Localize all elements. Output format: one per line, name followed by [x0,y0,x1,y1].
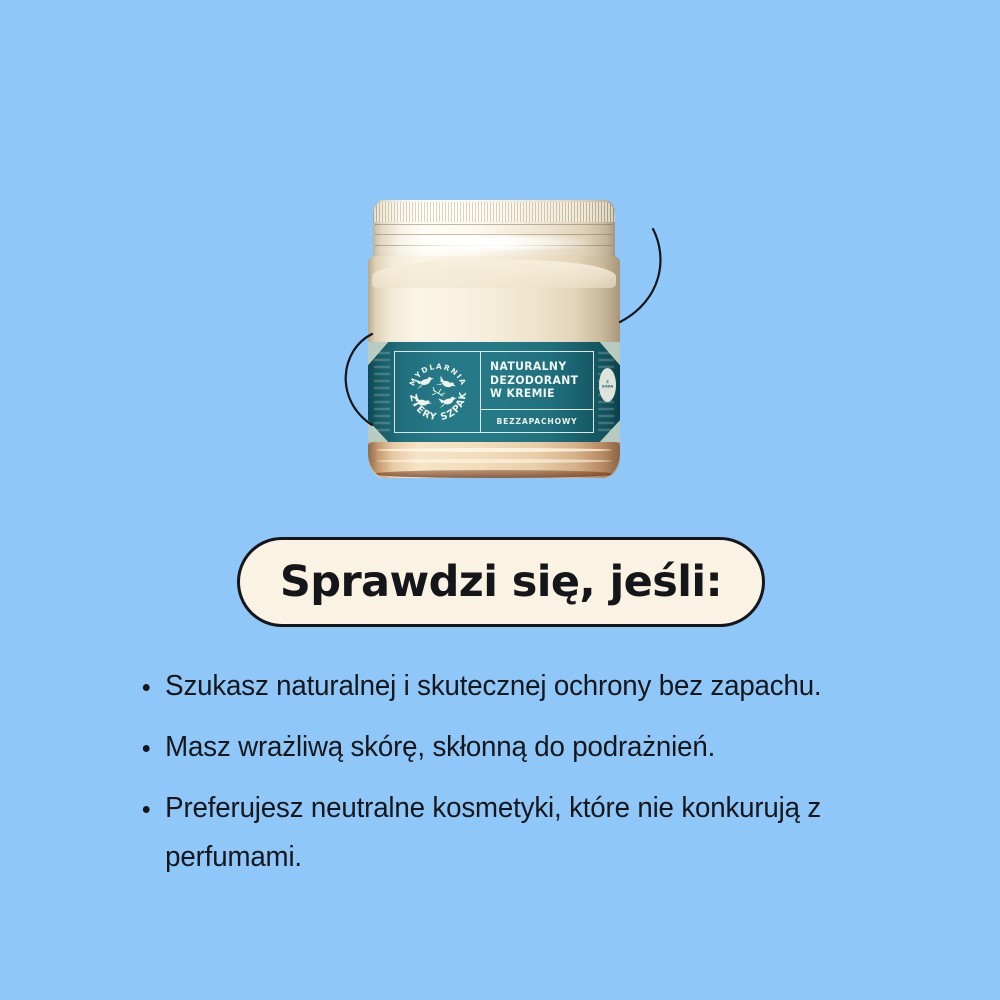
jar-lid-ring [375,234,613,235]
label-text-panel: NATURALNY DEZODORANT W KREMIE BEZZAPACHO… [481,352,593,432]
page-title: Sprawdzi się, jeśli: [280,557,722,607]
jar-base [368,442,620,478]
jar-lid-knurling [373,202,615,222]
label-variant-row: BEZZAPACHOWY [481,410,593,432]
jar-base-band [376,459,613,463]
label-claim-badge-text: Z SODĄ [600,381,615,389]
product-jar: MYDLARNIA CZTERY SZPAKI [368,200,620,478]
jar-cream-surface [372,260,616,288]
label-product-line-3: W KREMIE [490,387,587,400]
jar-base-band [376,448,613,452]
jar-lid-ring [375,224,613,225]
label-brand-panel: MYDLARNIA CZTERY SZPAKI [395,352,481,432]
brand-emblem-icon: MYDLARNIA CZTERY SZPAKI [400,354,476,430]
product-label: MYDLARNIA CZTERY SZPAKI [368,342,620,442]
label-side-print [374,352,390,432]
jar-lid-highlight [388,236,598,250]
list-item: Masz wrażliwą skórę, skłonną do podrażni… [138,723,856,772]
label-product-line-1: NATURALNY [490,360,587,373]
benefits-list: Szukasz naturalnej i skutecznej ochrony … [138,662,878,894]
list-item: Preferujesz neutralne kosmetyki, które n… [138,784,856,882]
product-figure: MYDLARNIA CZTERY SZPAKI [0,0,1000,510]
list-item: Szukasz naturalnej i skutecznej ochrony … [138,662,856,711]
label-product-line-2: DEZODORANT [490,374,587,387]
label-claim-badge: Z SODĄ [599,368,616,402]
brand-top-text: MYDLARNIA [407,362,468,388]
svg-text:MYDLARNIA: MYDLARNIA [407,362,468,388]
label-product-name: NATURALNY DEZODORANT W KREMIE [481,352,593,410]
jar-base-shadow [373,470,615,478]
label-variant-text: BEZZAPACHOWY [496,417,577,426]
label-frame: MYDLARNIA CZTERY SZPAKI [394,351,594,433]
headline-pill: Sprawdzi się, jeśli: [237,537,765,627]
